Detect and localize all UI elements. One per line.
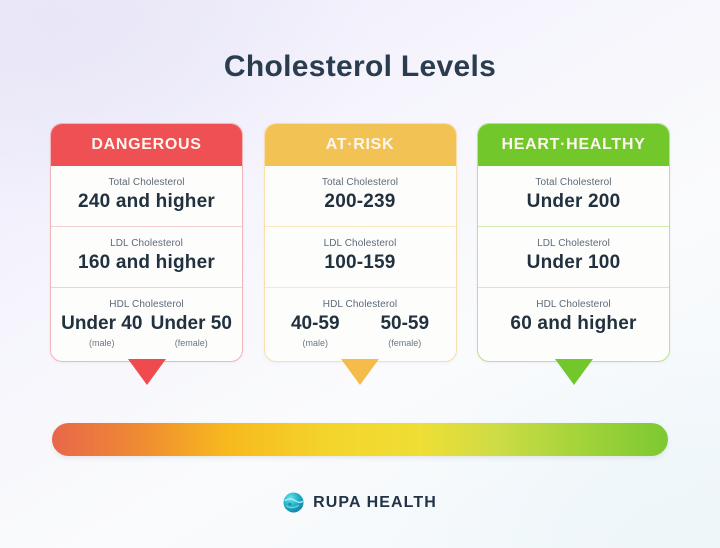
card-heart-healthy: HEART·HEALTHY Total Cholesterol Under 20… bbox=[477, 123, 670, 362]
row-value: 240 and higher bbox=[57, 191, 236, 213]
row-value: 200-239 bbox=[271, 191, 450, 213]
card-dangerous-heading: DANGEROUS bbox=[51, 124, 242, 166]
hdl-male: Under 40 (male) bbox=[57, 313, 147, 348]
card-at-risk-row-ldl: LDL Cholesterol 100-159 bbox=[265, 226, 456, 287]
pointer-triangle-at-risk bbox=[341, 359, 379, 385]
pointer-triangle-dangerous bbox=[128, 359, 166, 385]
row-value: Under 100 bbox=[484, 252, 663, 274]
hdl-male-value: Under 40 bbox=[57, 313, 147, 335]
row-label: Total Cholesterol bbox=[484, 177, 663, 188]
row-value: 160 and higher bbox=[57, 252, 236, 274]
rupa-globe-icon bbox=[283, 492, 304, 513]
hdl-split: 40-59 (male) 50-59 (female) bbox=[271, 313, 450, 348]
cholesterol-category-cards: DANGEROUS Total Cholesterol 240 and high… bbox=[50, 123, 670, 362]
card-at-risk: AT·RISK Total Cholesterol 200-239 LDL Ch… bbox=[264, 123, 457, 362]
row-label: LDL Cholesterol bbox=[484, 238, 663, 249]
card-dangerous-row-total: Total Cholesterol 240 and higher bbox=[51, 166, 242, 226]
card-heart-healthy-row-hdl: HDL Cholesterol 60 and higher bbox=[478, 287, 669, 348]
hdl-split: Under 40 (male) Under 50 (female) bbox=[57, 313, 236, 348]
hdl-female-value: Under 50 bbox=[147, 313, 237, 335]
card-at-risk-heading: AT·RISK bbox=[265, 124, 456, 166]
row-label: Total Cholesterol bbox=[57, 177, 236, 188]
hdl-female-value: 50-59 bbox=[360, 313, 450, 335]
card-heart-healthy-row-ldl: LDL Cholesterol Under 100 bbox=[478, 226, 669, 287]
hdl-female: Under 50 (female) bbox=[147, 313, 237, 348]
card-heart-healthy-row-total: Total Cholesterol Under 200 bbox=[478, 166, 669, 226]
row-label: HDL Cholesterol bbox=[57, 299, 236, 310]
hdl-male: 40-59 (male) bbox=[271, 313, 361, 348]
card-dangerous-row-ldl: LDL Cholesterol 160 and higher bbox=[51, 226, 242, 287]
card-at-risk-row-total: Total Cholesterol 200-239 bbox=[265, 166, 456, 226]
page-title: Cholesterol Levels bbox=[0, 50, 720, 84]
brand-name: RUPA HEALTH bbox=[313, 494, 437, 512]
row-value: 100-159 bbox=[271, 252, 450, 274]
card-dangerous: DANGEROUS Total Cholesterol 240 and high… bbox=[50, 123, 243, 362]
row-value: Under 200 bbox=[484, 191, 663, 213]
row-label: HDL Cholesterol bbox=[484, 299, 663, 310]
row-label: LDL Cholesterol bbox=[57, 238, 236, 249]
pointer-triangle-heart-healthy bbox=[555, 359, 593, 385]
footer-branding: RUPA HEALTH bbox=[0, 492, 720, 513]
row-label: LDL Cholesterol bbox=[271, 238, 450, 249]
risk-spectrum-bar bbox=[52, 423, 668, 456]
hdl-female: 50-59 (female) bbox=[360, 313, 450, 348]
hdl-male-sublabel: (male) bbox=[271, 338, 361, 348]
hdl-female-sublabel: (female) bbox=[147, 338, 237, 348]
card-heart-healthy-heading: HEART·HEALTHY bbox=[478, 124, 669, 166]
row-label: Total Cholesterol bbox=[271, 177, 450, 188]
hdl-male-sublabel: (male) bbox=[57, 338, 147, 348]
card-dangerous-row-hdl: HDL Cholesterol Under 40 (male) Under 50… bbox=[51, 287, 242, 361]
row-label: HDL Cholesterol bbox=[271, 299, 450, 310]
hdl-male-value: 40-59 bbox=[271, 313, 361, 335]
card-at-risk-row-hdl: HDL Cholesterol 40-59 (male) 50-59 (fema… bbox=[265, 287, 456, 361]
hdl-female-sublabel: (female) bbox=[360, 338, 450, 348]
row-value: 60 and higher bbox=[484, 313, 663, 335]
